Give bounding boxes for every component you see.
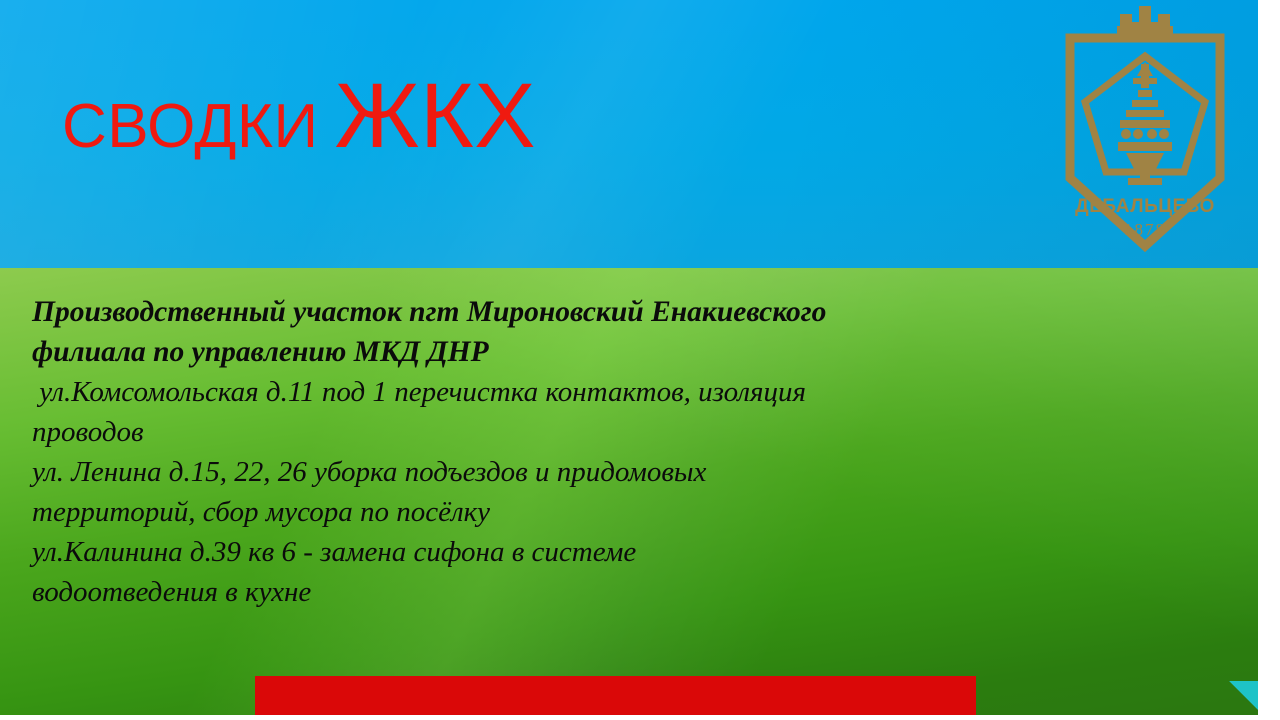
body-line: Производственный участок пгт Мироновский… (32, 292, 932, 332)
slide-title-main: ЖКХ (335, 65, 536, 167)
body-line: территорий, сбор мусора по посёлку (32, 492, 932, 532)
body-line: водоотведения в кухне (32, 572, 932, 612)
corner-accent-triangle (1224, 681, 1258, 715)
body-line: филиала по управлению МКД ДНР (32, 332, 932, 372)
slide-title: СводкиЖКХ (62, 70, 962, 162)
body-line: ул.Калинина д.39 кв 6 - замена сифона в … (32, 532, 932, 572)
svg-text:1878: 1878 (1124, 220, 1166, 239)
body-paragraph-details: ул.Комсомольская д.11 под 1 перечистка к… (32, 372, 932, 612)
body-line: проводов (32, 412, 932, 452)
slide-title-lead: Сводки (62, 92, 319, 161)
body-text-block: Производственный участок пгт Мироновский… (32, 292, 932, 612)
body-paragraph-heading: Производственный участок пгт Мироновский… (32, 292, 932, 372)
coat-of-arms-debaltsevo-icon: ДЕБАЛЬЦЕВО 1878 (1058, 6, 1232, 258)
body-line: ул.Комсомольская д.11 под 1 перечистка к… (32, 372, 932, 412)
footer-red-bar (255, 676, 976, 715)
body-line: ул. Ленина д.15, 22, 26 уборка подъездов… (32, 452, 932, 492)
slide: СводкиЖКХ (0, 0, 1280, 720)
svg-text:ДЕБАЛЬЦЕВО: ДЕБАЛЬЦЕВО (1075, 196, 1215, 217)
